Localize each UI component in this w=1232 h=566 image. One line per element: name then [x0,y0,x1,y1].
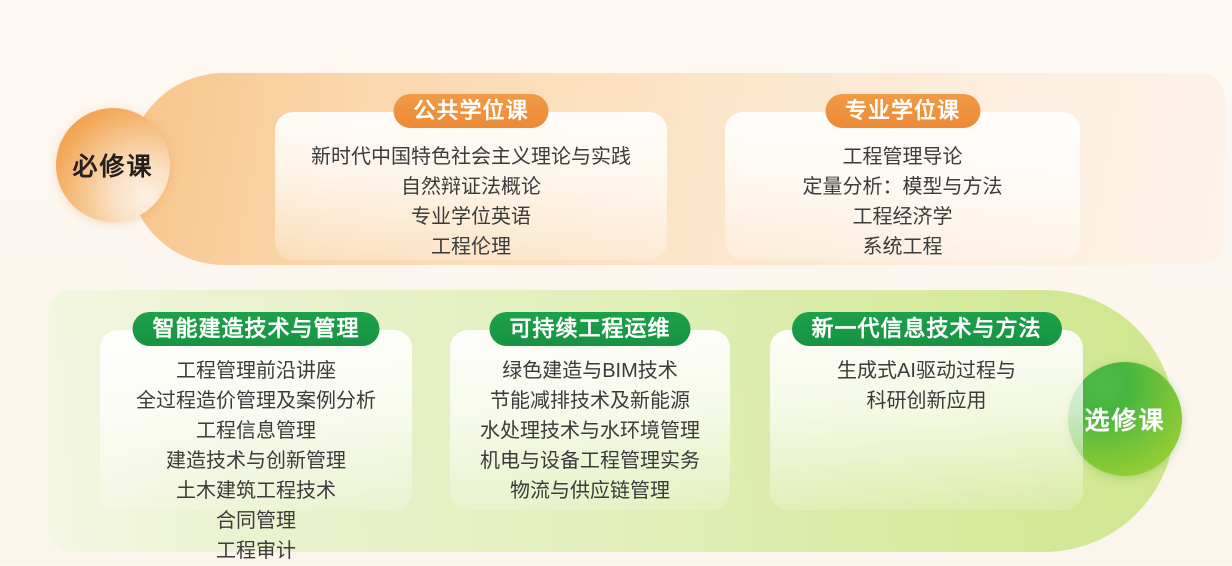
course-item: 工程伦理 [275,232,667,262]
course-item: 绿色建造与BIM技术 [450,356,730,386]
course-item: 节能减排技术及新能源 [450,386,730,416]
course-list: 工程管理前沿讲座 全过程造价管理及案例分析 工程信息管理 建造技术与创新管理 土… [100,356,412,566]
card-new-generation-it: 新一代信息技术与方法 生成式AI驱动过程与 科研创新应用 [770,330,1083,510]
course-list: 生成式AI驱动过程与 科研创新应用 [770,356,1083,416]
card-title: 智能建造技术与管理 [132,312,379,346]
card-smart-construction: 智能建造技术与管理 工程管理前沿讲座 全过程造价管理及案例分析 工程信息管理 建… [100,330,412,510]
course-item: 科研创新应用 [770,386,1083,416]
elective-badge: 选修课 [1068,362,1182,476]
course-item: 全过程造价管理及案例分析 [100,386,412,416]
card-title: 可持续工程运维 [489,312,690,346]
course-item: 定量分析：模型与方法 [725,172,1080,202]
course-item: 专业学位英语 [275,202,667,232]
card-title: 专业学位课 [825,94,980,128]
required-badge-label: 必修课 [72,147,153,183]
course-item: 土木建筑工程技术 [100,476,412,506]
course-structure-infographic: 必修课 选修课 公共学位课 新时代中国特色社会主义理论与实践 自然辩证法概论 专… [0,0,1232,562]
card-professional-degree-courses: 专业学位课 工程管理导论 定量分析：模型与方法 工程经济学 系统工程 [725,112,1080,260]
course-item: 合同管理 [100,506,412,536]
course-item: 建造技术与创新管理 [100,446,412,476]
course-item: 生成式AI驱动过程与 [770,356,1083,386]
course-item: 机电与设备工程管理实务 [450,446,730,476]
course-item: 工程管理导论 [725,142,1080,172]
course-item: 自然辩证法概论 [275,172,667,202]
course-item: 工程经济学 [725,202,1080,232]
course-item: 工程信息管理 [100,416,412,446]
elective-badge-label: 选修课 [1084,401,1165,437]
course-item: 系统工程 [725,232,1080,262]
card-title: 公共学位课 [393,94,548,128]
required-badge: 必修课 [56,108,170,222]
card-public-degree-courses: 公共学位课 新时代中国特色社会主义理论与实践 自然辩证法概论 专业学位英语 工程… [275,112,667,260]
course-item: 新时代中国特色社会主义理论与实践 [275,142,667,172]
course-list: 工程管理导论 定量分析：模型与方法 工程经济学 系统工程 [725,142,1080,262]
course-item: 水处理技术与水环境管理 [450,416,730,446]
card-title: 新一代信息技术与方法 [791,312,1061,346]
course-list: 绿色建造与BIM技术 节能减排技术及新能源 水处理技术与水环境管理 机电与设备工… [450,356,730,506]
card-sustainable-engineering: 可持续工程运维 绿色建造与BIM技术 节能减排技术及新能源 水处理技术与水环境管… [450,330,730,510]
course-item: 工程管理前沿讲座 [100,356,412,386]
course-list: 新时代中国特色社会主义理论与实践 自然辩证法概论 专业学位英语 工程伦理 [275,142,667,262]
course-item: 物流与供应链管理 [450,476,730,506]
